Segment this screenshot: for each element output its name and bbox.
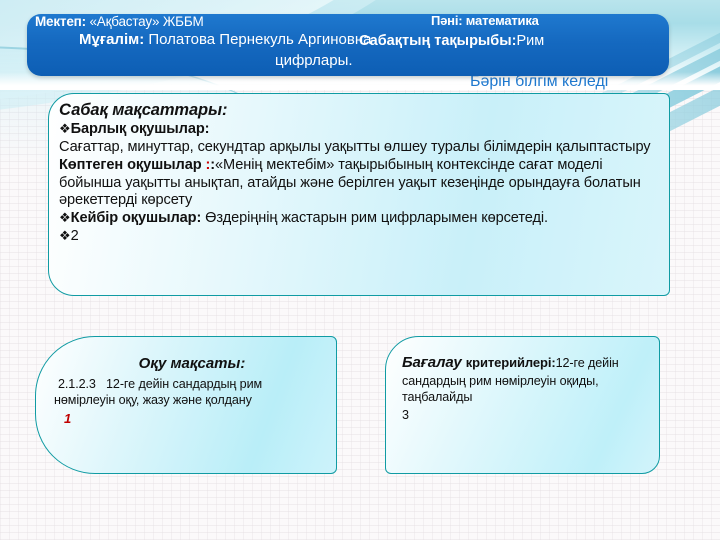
school-line: Мектеп: «Ақбастау» ЖББМ <box>35 14 204 29</box>
all-students-text: Сағаттар, минуттар, секундтар арқылы уақ… <box>59 139 663 157</box>
diamond-bullet-icon: ❖ <box>59 121 71 136</box>
learning-goal-title: Оқу мақсаты: <box>60 355 324 372</box>
assessment-title-sub: критерийлері: <box>466 355 556 370</box>
header-info-box: Мектеп: «Ақбастау» ЖББМ Мұғалім: Полатов… <box>27 14 669 76</box>
topic-line-2: цифрлары. <box>275 53 353 70</box>
diamond-bullet-icon: ❖ <box>59 228 71 243</box>
teacher-line: Мұғалім: Полатова Пернекуль Аргиновна <box>79 32 371 49</box>
all-students-row: ❖Барлық оқушылар: <box>59 121 663 139</box>
some-students-text: Өздеріңнің жастарын рим цифрларымен көрс… <box>201 210 548 226</box>
most-students-row: Көптеген оқушылар ::«Менің мектебім» тақ… <box>59 157 663 210</box>
presentation-slide: Бәрін білгім келеді Мектеп: «Ақбастау» Ж… <box>0 0 720 540</box>
teacher-value: Полатова Пернекуль Аргиновна <box>148 31 371 48</box>
lesson-objectives-text: Сабақ мақсаттары: ❖Барлық оқушылар: Саға… <box>59 100 663 246</box>
objectives-title: Сабақ мақсаттары: <box>59 100 663 120</box>
learning-goal-code: 2.1.2.3 <box>58 377 96 391</box>
assessment-criteria-body: Бағалау критерийлері:12-ге дейін сандард… <box>402 353 649 424</box>
learning-goal-number: 1 <box>64 411 324 428</box>
learning-goal-panel: Оқу мақсаты: 2.1.2.3 12-ге дейін сандард… <box>35 336 337 474</box>
most-students-label: Көптеген оқушылар <box>59 157 205 173</box>
last-item-value: 2 <box>71 228 79 244</box>
subject-label: Пәні: <box>431 13 462 28</box>
subject-line: Пәні: математика <box>431 14 539 29</box>
school-value: «Ақбастау» ЖББМ <box>89 14 203 29</box>
assessment-title: Бағалау <box>402 354 466 371</box>
learning-goal-body: 2.1.2.3 12-ге дейін сандардың рим нөмірл… <box>54 376 324 428</box>
some-students-label: Кейбір оқушылар: <box>71 210 202 226</box>
all-students-label: Барлық оқушылар: <box>71 121 210 137</box>
some-students-row: ❖Кейбір оқушылар: Өздеріңнің жастарын ри… <box>59 210 663 228</box>
assessment-number: 3 <box>402 407 649 424</box>
lesson-objectives-panel: Сабақ мақсаттары: ❖Барлық оқушылар: Саға… <box>48 93 670 296</box>
topic-label: Сабақтың тақырыбы: <box>359 33 516 49</box>
topic-line: Сабақтың тақырыбы:Рим <box>359 33 544 49</box>
last-item-row: ❖2 <box>59 228 663 246</box>
subject-value: математика <box>466 13 539 28</box>
topic-value: Рим <box>516 33 544 49</box>
teacher-label: Мұғалім: <box>79 31 144 48</box>
school-label: Мектеп: <box>35 14 86 29</box>
assessment-criteria-panel: Бағалау критерийлері:12-ге дейін сандард… <box>385 336 660 474</box>
diamond-bullet-icon: ❖ <box>59 210 71 225</box>
